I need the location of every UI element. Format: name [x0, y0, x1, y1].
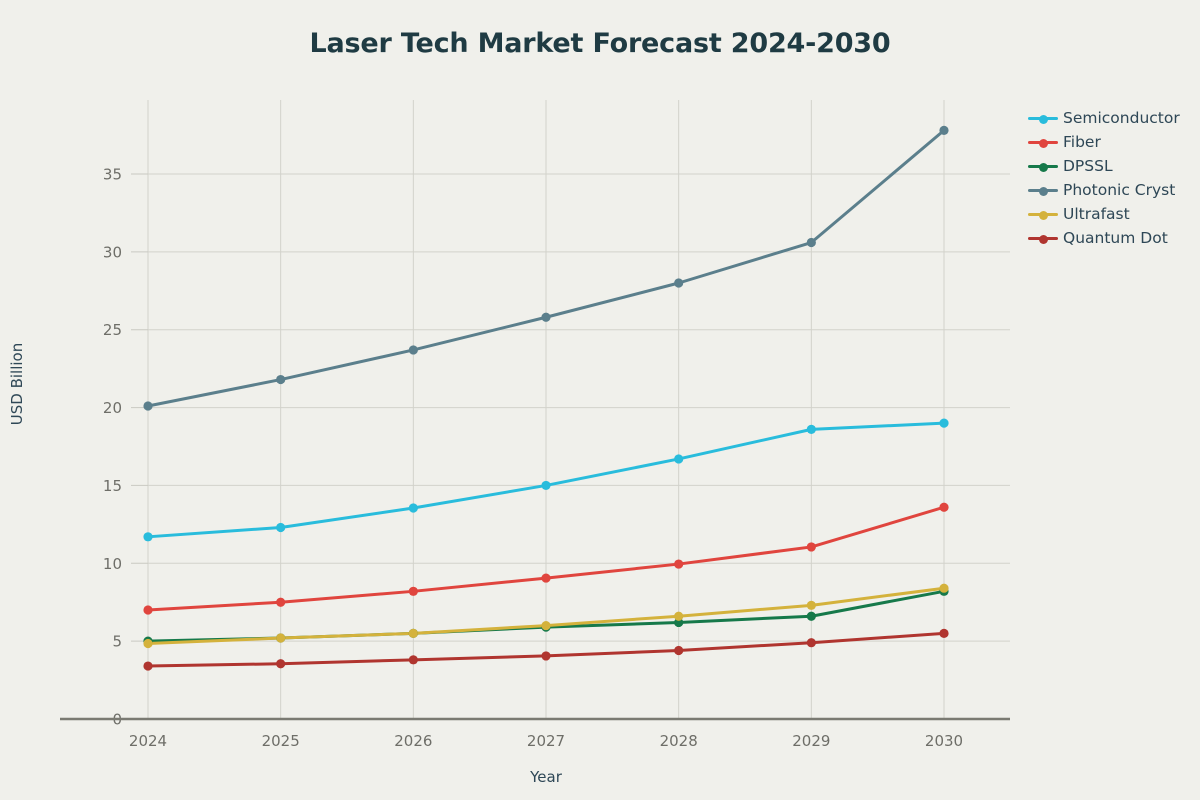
- legend-label: Fiber: [1063, 133, 1101, 151]
- data-point-marker: [939, 503, 948, 512]
- data-point-marker: [939, 419, 948, 428]
- data-point-marker: [541, 481, 550, 490]
- data-point-marker: [807, 638, 816, 647]
- x-tick-labels: 2024202520262027202820292030: [129, 732, 963, 750]
- x-tick-label: 2029: [792, 732, 830, 750]
- legend-label: Ultrafast: [1063, 205, 1130, 223]
- legend-label: Semiconductor: [1063, 109, 1180, 127]
- data-point-marker: [541, 313, 550, 322]
- x-tick-label: 2027: [527, 732, 565, 750]
- y-tick-label: 35: [103, 166, 122, 184]
- data-point-marker: [143, 661, 152, 670]
- data-point-marker: [807, 425, 816, 434]
- data-point-marker: [276, 659, 285, 668]
- data-point-marker: [674, 454, 683, 463]
- data-point-marker: [807, 601, 816, 610]
- legend-dot: [1039, 163, 1048, 172]
- data-point-marker: [276, 598, 285, 607]
- legend-item-dpssl[interactable]: DPSSL: [1028, 154, 1200, 178]
- legend-dot: [1039, 211, 1048, 220]
- legend-item-ultrafast[interactable]: Ultrafast: [1028, 202, 1200, 226]
- y-tick-label: 5: [112, 633, 122, 651]
- data-point-marker: [143, 639, 152, 648]
- data-point-marker: [409, 655, 418, 664]
- data-point-marker: [674, 646, 683, 655]
- data-point-marker: [807, 238, 816, 247]
- data-point-marker: [143, 532, 152, 541]
- data-point-marker: [674, 278, 683, 287]
- data-point-marker: [939, 629, 948, 638]
- legend-dot: [1039, 115, 1048, 124]
- y-tick-labels: 05101520253035: [103, 166, 148, 729]
- legend: SemiconductorFiberDPSSLPhotonic CrystUlt…: [1028, 106, 1200, 250]
- data-point-marker: [143, 401, 152, 410]
- legend-swatch-icon: [1028, 231, 1058, 245]
- legend-dot: [1039, 139, 1048, 148]
- data-point-marker: [939, 126, 948, 135]
- legend-swatch-icon: [1028, 135, 1058, 149]
- y-axis-label: USD Billion: [8, 319, 26, 449]
- y-tick-label: 30: [103, 243, 122, 261]
- data-point-marker: [409, 345, 418, 354]
- x-tick-label: 2030: [925, 732, 963, 750]
- data-point-marker: [409, 503, 418, 512]
- data-point-marker: [541, 573, 550, 582]
- data-point-marker: [276, 633, 285, 642]
- data-point-marker: [409, 587, 418, 596]
- x-axis-label: Year: [148, 768, 944, 786]
- legend-item-quantum-dot[interactable]: Quantum Dot: [1028, 226, 1200, 250]
- legend-swatch-icon: [1028, 207, 1058, 221]
- x-tick-label: 2028: [660, 732, 698, 750]
- data-point-marker: [674, 612, 683, 621]
- legend-swatch-icon: [1028, 183, 1058, 197]
- legend-swatch-icon: [1028, 111, 1058, 125]
- data-point-marker: [143, 605, 152, 614]
- data-point-marker: [541, 621, 550, 630]
- legend-item-semiconductor[interactable]: Semiconductor: [1028, 106, 1200, 130]
- legend-item-photonic-cryst[interactable]: Photonic Cryst: [1028, 178, 1200, 202]
- data-point-marker: [276, 375, 285, 384]
- data-point-marker: [939, 584, 948, 593]
- legend-label: Quantum Dot: [1063, 229, 1168, 247]
- y-tick-label: 25: [103, 321, 122, 339]
- legend-item-fiber[interactable]: Fiber: [1028, 130, 1200, 154]
- line-chart-plot: 05101520253035 2024202520262027202820292…: [0, 0, 1200, 800]
- data-point-marker: [409, 629, 418, 638]
- data-point-marker: [541, 651, 550, 660]
- x-tick-label: 2024: [129, 732, 167, 750]
- data-point-marker: [276, 523, 285, 532]
- y-tick-label: 15: [103, 477, 122, 495]
- chart-page: Laser Tech Market Forecast 2024-2030 051…: [0, 0, 1200, 800]
- y-tick-label: 20: [103, 399, 122, 417]
- legend-dot: [1039, 235, 1048, 244]
- data-point-marker: [807, 612, 816, 621]
- x-tick-label: 2026: [394, 732, 432, 750]
- data-point-marker: [807, 542, 816, 551]
- legend-swatch-icon: [1028, 159, 1058, 173]
- x-tick-label: 2025: [262, 732, 300, 750]
- legend-label: DPSSL: [1063, 157, 1113, 175]
- y-tick-label: 10: [103, 555, 122, 573]
- legend-label: Photonic Cryst: [1063, 181, 1175, 199]
- legend-dot: [1039, 187, 1048, 196]
- data-point-marker: [674, 559, 683, 568]
